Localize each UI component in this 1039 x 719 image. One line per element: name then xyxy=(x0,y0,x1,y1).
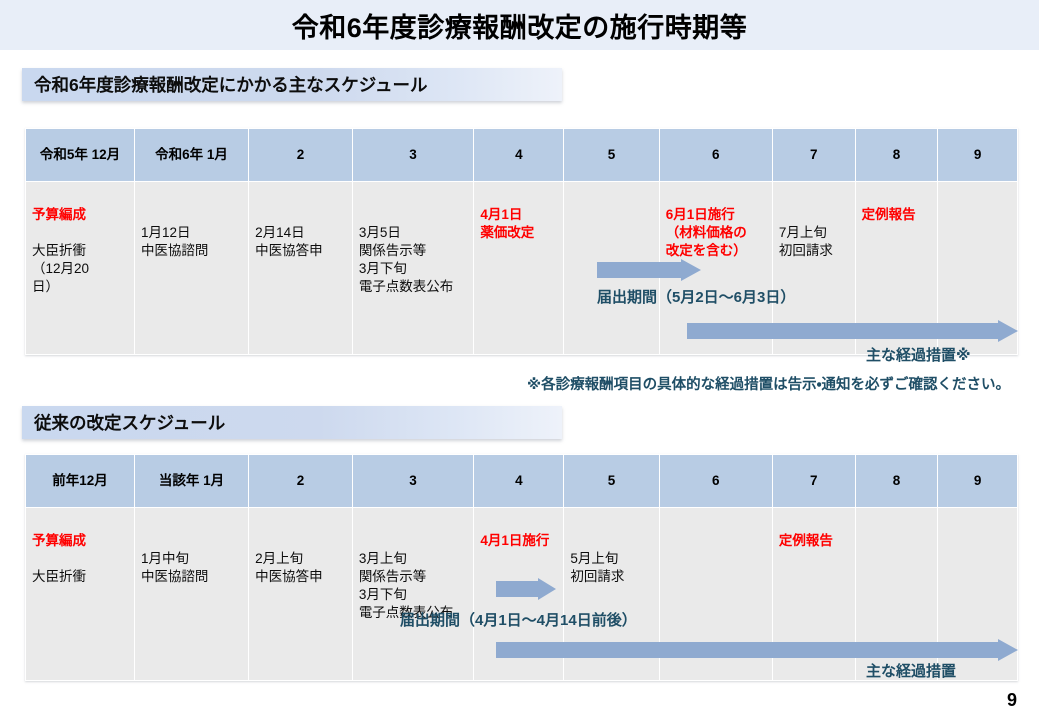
column-header: 6 xyxy=(659,455,772,508)
cell-body-text: 7月上旬 初回請求 xyxy=(779,224,850,260)
column-header: 令和5年 12月 xyxy=(26,129,135,182)
column-header: 4 xyxy=(474,129,564,182)
transitional-measures-label: 主な経過措置 xyxy=(866,660,956,681)
column-header: 3 xyxy=(352,455,474,508)
schedule-cell: 2月14日 中医協答申 xyxy=(249,182,353,355)
column-header: 7 xyxy=(772,455,855,508)
cell-highlight-text: 4月1日施行 xyxy=(480,532,558,550)
schedule-cell: 定例報告 xyxy=(772,508,855,681)
page-title: 令和6年度診療報酬改定の施行時期等 xyxy=(292,6,748,45)
schedule-cell: 1月12日 中医協諮問 xyxy=(134,182,248,355)
schedule-cell: 予算編成 大臣折衝 （12月20 日） xyxy=(26,182,135,355)
cell-highlight-text: 予算編成 xyxy=(32,532,129,550)
column-header: 9 xyxy=(938,455,1018,508)
cell-highlight-text: 定例報告 xyxy=(862,206,933,224)
schedule-cell: 1月中旬 中医協諮問 xyxy=(134,508,248,681)
column-header: 8 xyxy=(855,455,938,508)
schedule-table-former: 前年12月 当該年 1月 2 3 4 5 6 7 8 9 予算編成 大臣折衝 1… xyxy=(25,454,1018,681)
column-header: 当該年 1月 xyxy=(134,455,248,508)
cell-body-text: 1月中旬 中医協諮問 xyxy=(141,550,243,586)
column-header: 8 xyxy=(855,129,938,182)
section-header-label: 従来の改定スケジュール xyxy=(34,410,225,435)
section-header-former-schedule: 従来の改定スケジュール xyxy=(22,406,562,439)
cell-highlight-text: 予算編成 xyxy=(32,206,129,224)
cell-body-text: 5月上旬 初回請求 xyxy=(570,550,653,586)
table-header-row: 前年12月 当該年 1月 2 3 4 5 6 7 8 9 xyxy=(26,455,1018,508)
page-number: 9 xyxy=(1007,690,1017,711)
section-header-new-schedule: 令和6年度診療報酬改定にかかる主なスケジュール xyxy=(22,68,562,101)
column-header: 2 xyxy=(249,129,353,182)
schedule-cell: 予算編成 大臣折衝 xyxy=(26,508,135,681)
schedule-table-new: 令和5年 12月 令和6年 1月 2 3 4 5 6 7 8 9 予算編成 大臣… xyxy=(25,128,1018,355)
column-header: 7 xyxy=(772,129,855,182)
schedule-cell xyxy=(564,182,659,355)
section-header-label: 令和6年度診療報酬改定にかかる主なスケジュール xyxy=(34,72,428,97)
submission-period-label: 届出期間（5月2日～6月3日） xyxy=(597,286,795,307)
column-header: 前年12月 xyxy=(26,455,135,508)
column-header: 5 xyxy=(564,455,659,508)
column-header: 2 xyxy=(249,455,353,508)
cell-body-text: 2月上旬 中医協答申 xyxy=(255,550,347,586)
schedule-cell: 6月1日施行 （材料価格の 改定を含む） xyxy=(659,182,772,355)
column-header: 4 xyxy=(474,455,564,508)
column-header: 3 xyxy=(352,129,474,182)
slide-title-band: 令和6年度診療報酬改定の施行時期等 xyxy=(0,0,1039,50)
cell-body-text: 2月14日 中医協答申 xyxy=(255,224,347,260)
cell-highlight-text: 定例報告 xyxy=(779,532,850,550)
table-row: 予算編成 大臣折衝 （12月20 日） 1月12日 中医協諮問 2月14日 中医… xyxy=(26,182,1018,355)
transitional-measures-label: 主な経過措置※ xyxy=(866,344,971,365)
submission-period-label: 届出期間（4月1日～4月14日前後） xyxy=(400,609,637,630)
table-header-row: 令和5年 12月 令和6年 1月 2 3 4 5 6 7 8 9 xyxy=(26,129,1018,182)
cell-highlight-text: 4月1日 薬価改定 xyxy=(480,206,558,242)
cell-body-text: 3月5日 関係告示等 3月下旬 電子点数表公布 xyxy=(359,224,469,296)
column-header: 6 xyxy=(659,129,772,182)
schedule-cell: 3月5日 関係告示等 3月下旬 電子点数表公布 xyxy=(352,182,474,355)
column-header: 5 xyxy=(564,129,659,182)
column-header: 9 xyxy=(938,129,1018,182)
schedule-cell: 4月1日施行 xyxy=(474,508,564,681)
table-row: 予算編成 大臣折衝 1月中旬 中医協諮問 2月上旬 中医協答申 3月上旬 関係告… xyxy=(26,508,1018,681)
schedule-cell: 定例報告 xyxy=(855,182,938,355)
schedule-cell: 7月上旬 初回請求 xyxy=(772,182,855,355)
schedule-cell: 2月上旬 中医協答申 xyxy=(249,508,353,681)
cell-body-text: 大臣折衝 （12月20 日） xyxy=(32,242,129,296)
schedule-cell xyxy=(855,508,938,681)
schedule-cell xyxy=(938,508,1018,681)
cell-body-text: 1月12日 中医協諮問 xyxy=(141,224,243,260)
schedule-cell xyxy=(659,508,772,681)
schedule-cell: 5月上旬 初回請求 xyxy=(564,508,659,681)
schedule-cell: 3月上旬 関係告示等 3月下旬 電子点数表公布 xyxy=(352,508,474,681)
footnote-text: ※各診療報酬項目の具体的な経過措置は告示・通知を必ずご確認ください。 xyxy=(527,373,1010,394)
schedule-cell: 4月1日 薬価改定 xyxy=(474,182,564,355)
cell-highlight-text: 6月1日施行 （材料価格の 改定を含む） xyxy=(666,206,767,260)
column-header: 令和6年 1月 xyxy=(134,129,248,182)
cell-body-text: 大臣折衝 xyxy=(32,568,129,586)
schedule-cell xyxy=(938,182,1018,355)
